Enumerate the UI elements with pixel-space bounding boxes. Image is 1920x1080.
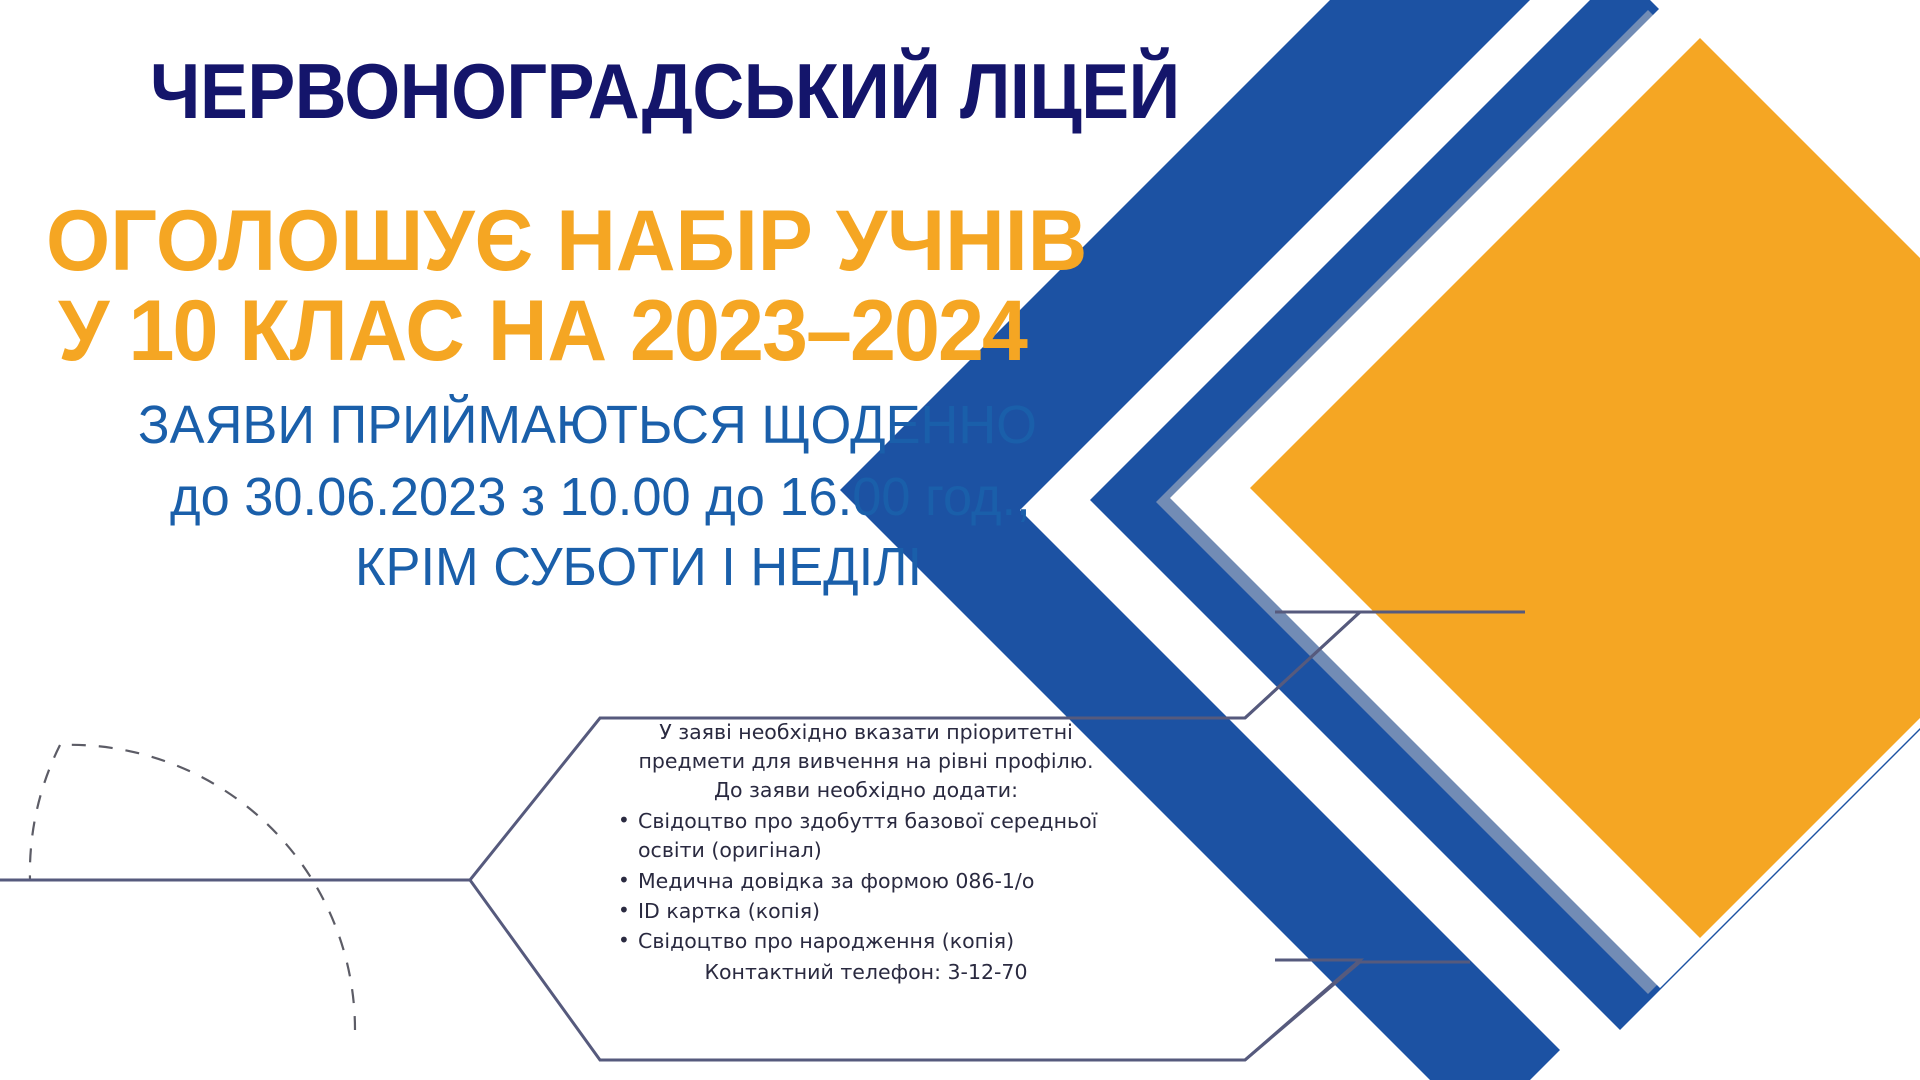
white-gap-ring (1170, 8, 1920, 988)
school-year: 2023–2024 (630, 283, 1026, 379)
orange-diamond-shadow (1156, 10, 1920, 994)
documents-list: Свідоцтво про здобуття базової середньої… (596, 807, 1136, 956)
list-item: Свідоцтво про здобуття базової середньої… (618, 807, 1136, 865)
grade-label: КЛАС НА (216, 283, 630, 379)
page-title: ЧЕРВОНОГРАДСЬКИЙ ЛІЦЕЙ (150, 52, 1180, 130)
intro-line-1: У заяві необхідно вказати пріоритетні (596, 718, 1136, 747)
hexagon-connector-top (1245, 612, 1525, 718)
hexagon-connector-bottom (1245, 962, 1470, 1060)
dashed-circle-arc (30, 745, 355, 1030)
announcement-line-1: ОГОЛОШУЄ НАБІР УЧНІВ (46, 198, 1087, 284)
announcement-line-2: У 10 КЛАС НА 2023–2024 (58, 288, 1026, 374)
list-item: Свідоцтво про народження (копія) (618, 927, 1136, 956)
contact-phone: Контактний телефон: 3-12-70 (596, 958, 1136, 987)
schedule-line: до 30.06.2023 з 10.00 до 16.00 год., (170, 470, 1031, 524)
grade-number: У 10 (58, 283, 216, 379)
white-separator-diamond (1020, 0, 1920, 1080)
intro-line-3: До заяви необхідно додати: (596, 776, 1136, 805)
list-item: ID картка (копія) (618, 897, 1136, 926)
applications-accepted-line: ЗАЯВИ ПРИЙМАЮТЬСЯ ЩОДЕННО (138, 398, 1037, 452)
requirements-panel: У заяві необхідно вказати пріоритетні пр… (596, 718, 1136, 987)
blue-wedge-bottom-right (1460, 700, 1920, 1080)
list-item: Медична довідка за формою 086-1/о (618, 867, 1136, 896)
intro-line-2: предмети для вивчення на рівні профілю. (596, 747, 1136, 776)
orange-diamond (1250, 38, 1920, 938)
blue-diamond-inner (1090, 0, 1920, 1030)
poster-canvas: ЧЕРВОНОГРАДСЬКИЙ ЛІЦЕЙ ОГОЛОШУЄ НАБІР УЧ… (0, 0, 1920, 1080)
requirements-intro: У заяві необхідно вказати пріоритетні пр… (596, 718, 1136, 805)
weekend-exception-line: КРІМ СУБОТИ І НЕДІЛІ (355, 540, 922, 594)
